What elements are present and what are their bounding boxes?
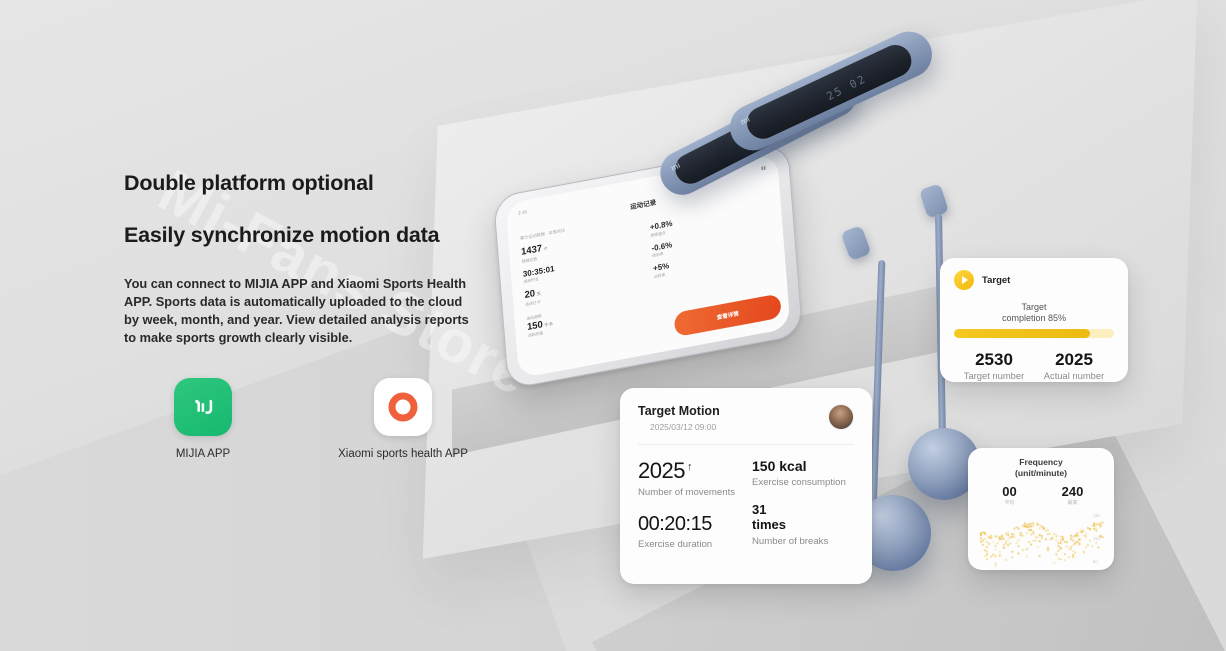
motion-stat-consumption-caption: Exercise consumption — [752, 477, 854, 489]
xiaomi-health-ring-icon — [374, 378, 432, 436]
frequency-card-title: Frequency (unit/minute) — [978, 457, 1104, 478]
target-number-actual-value: 2025 — [1034, 350, 1114, 370]
frequency-scatter-plot — [978, 511, 1104, 569]
target-completion-card: Target Target completion 85% 2530 Target… — [940, 258, 1128, 382]
frequency-max-value: 240 — [1041, 484, 1104, 499]
copy-block: Double platform optional Easily synchron… — [124, 170, 504, 347]
motion-stat-breaks-value: 31 — [752, 503, 854, 518]
phone-stat-unit: % — [665, 240, 673, 250]
phone-status-icons: ▮▮ — [761, 165, 766, 172]
motion-card-heading: Target Motion 2025/03/12 09:00 — [638, 404, 720, 432]
avatar[interactable] — [828, 404, 854, 430]
frequency-max-caption: 最高 — [1041, 499, 1104, 506]
mijia-icon — [174, 378, 232, 436]
motion-stat-duration: 00:20:15 Exercise duration — [638, 513, 740, 551]
motion-stat-movements-value: 2025 — [638, 458, 685, 483]
phone-stat-unit: 千卡 — [544, 321, 553, 328]
motion-stat-consumption-value: 150 kcal — [752, 458, 854, 474]
target-number-goal-value: 2530 — [954, 350, 1034, 370]
motion-card-date: 2025/03/12 09:00 — [650, 422, 720, 432]
phone-stats-left: 1437个 跳绳总数 30:35:01 运动时长 20天 连续打卡 运动趋势 1… — [521, 225, 648, 344]
target-number-actual-caption: Actual number — [1034, 370, 1114, 381]
motion-stat-movements: 2025↑ Number of movements — [638, 458, 740, 499]
app-item-mijia[interactable]: MIJIA APP — [128, 378, 278, 460]
motion-stat-consumption: 150 kcal Exercise consumption — [752, 458, 854, 489]
phone-stat-value: 20 — [524, 288, 535, 301]
frequency-numbers: 00 平均 240 最高 — [978, 484, 1104, 506]
target-completion-label-line1: Target — [954, 302, 1114, 313]
product-marketing-image: Mi-Fans Store Double platform optional E… — [0, 0, 1226, 651]
motion-stat-breaks-caption: Number of breaks — [752, 536, 854, 548]
handle-display-digits: 25 02 — [825, 72, 869, 103]
app-list: MIJIA APP Xiaomi sports health APP — [128, 378, 478, 460]
motion-stats-grid: 2025↑ Number of movements 00:20:15 Exerc… — [638, 458, 854, 565]
frequency-number-max: 240 最高 — [1041, 484, 1104, 506]
target-number-actual: 2025 Actual number — [1034, 350, 1114, 381]
target-numbers: 2530 Target number 2025 Actual number — [954, 350, 1114, 381]
target-progress-bar — [954, 329, 1114, 338]
body-copy: You can connect to MIJIA APP and Xiaomi … — [124, 275, 476, 348]
target-progress-fill — [954, 329, 1090, 338]
headline-line-2: Easily synchronize motion data — [124, 222, 504, 249]
motion-stats-right: 150 kcal Exercise consumption 31 times N… — [740, 458, 854, 565]
frequency-title-line2: (unit/minute) — [978, 468, 1104, 479]
motion-card-title: Target Motion — [638, 404, 720, 418]
frequency-average-caption: 平均 — [978, 499, 1041, 506]
motion-card-divider — [638, 444, 854, 445]
phone-stat-unit: % — [665, 219, 673, 229]
phone-stat-unit: 天 — [536, 291, 541, 297]
target-number-goal: 2530 Target number — [954, 350, 1034, 381]
target-number-goal-caption: Target number — [954, 370, 1034, 381]
target-card-header: Target — [954, 270, 1114, 290]
phone-stat-unit: 个 — [543, 246, 548, 252]
motion-stat-breaks: 31 times Number of breaks — [752, 503, 854, 548]
app-item-xiaomi-health[interactable]: Xiaomi sports health APP — [328, 378, 478, 460]
play-icon — [954, 270, 974, 290]
frequency-card: Frequency (unit/minute) 00 平均 240 最高 — [968, 448, 1114, 570]
motion-card-header: Target Motion 2025/03/12 09:00 — [638, 404, 854, 432]
motion-stats-left: 2025↑ Number of movements 00:20:15 Exerc… — [638, 458, 740, 565]
headline-line-1: Double platform optional — [124, 170, 504, 197]
phone-status-time: 2:16 — [518, 209, 527, 217]
frequency-number-average: 00 平均 — [978, 484, 1041, 506]
motion-stat-movements-caption: Number of movements — [638, 487, 740, 499]
motion-stat-breaks-unit: times — [752, 518, 854, 533]
frequency-scatter-canvas — [978, 511, 1104, 569]
up-arrow-icon: ↑ — [687, 461, 692, 473]
motion-stat-duration-value: 00:20:15 — [638, 513, 740, 536]
target-completion-label: Target completion 85% — [954, 302, 1114, 324]
app-label-xiaomi-health: Xiaomi sports health APP — [338, 448, 468, 460]
target-card-title: Target — [982, 275, 1010, 286]
phone-stat-unit: % — [662, 261, 670, 271]
app-label-mijia: MIJIA APP — [176, 448, 230, 460]
frequency-average-value: 00 — [978, 484, 1041, 499]
motion-stat-duration-caption: Exercise duration — [638, 539, 740, 551]
frequency-title-line1: Frequency — [978, 457, 1104, 468]
target-completion-label-line2: completion 85% — [954, 313, 1114, 324]
target-motion-card: Target Motion 2025/03/12 09:00 2025↑ Num… — [620, 388, 872, 584]
